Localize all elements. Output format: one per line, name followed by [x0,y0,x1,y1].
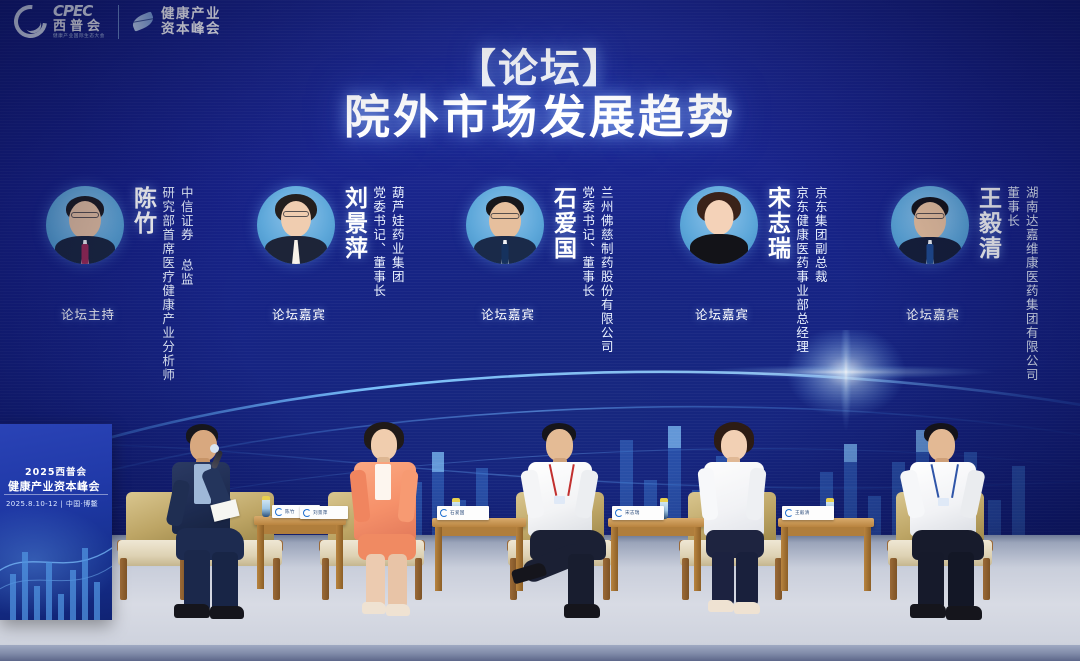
podium-banner: 2025西普会 健康产业资本峰会 2025.8.10-12 | 中国·博鳌 [0,424,112,620]
panelist-title-line-1: 党委书记、董事长 [370,186,386,298]
panelist-name: 刘景萍 [341,186,364,261]
avatar [46,186,124,264]
forum-title-block: 【论坛】 院外市场发展趋势 [0,48,1080,143]
shoe-right [564,604,600,618]
podium-banner-line-3: 2025.8.10-12 | 中国·博鳌 [0,499,104,509]
panelist-card-4: 王毅清 湖南达嘉维康医药集团有限公司 董事长 论坛嘉宾 [891,186,1039,382]
panelist-title-line-0: 京东集团副总裁 [812,186,828,354]
avatar [466,186,544,264]
placard-text: 刘景萍 [313,510,328,516]
placard-logo-icon [275,508,283,516]
panelist-title-line-1: 京东健康医药事业部总经理 [793,186,809,354]
podium-banner-divider [4,494,108,495]
logo-divider [118,5,119,39]
panelist-title-line-1: 研究部首席医疗健康产业分析师 [159,186,175,382]
shoe-left [174,604,210,618]
leaf-icon [130,12,155,32]
title-line-2: 院外市场发展趋势 [0,92,1080,143]
panelist-name: 宋志瑞 [764,186,787,261]
shoe-right [386,604,410,616]
summit-logo: 健康产业 资本峰会 [132,7,221,37]
panelist-card-3: 宋志瑞 京东集团副总裁 京东健康医药事业部总经理 论坛嘉宾 [680,186,828,354]
avatar [891,186,969,264]
panelist-title-line-0: 湖南达嘉维康医药集团有限公司 [1023,186,1039,382]
panelist-title-line-1: 党委书记、董事长 [579,186,595,354]
shoe-left [362,602,386,614]
person-panelist-4 [898,420,1016,620]
summit-logo-line2: 资本峰会 [161,22,221,37]
badge [938,498,949,506]
panelist-title-line-0: 兰州佛慈制药股份有限公司 [598,186,614,354]
panelist-title-line-1: 董事长 [1004,186,1020,382]
podium-banner-line-1: 2025西普会 [6,464,106,478]
panelist-role: 论坛主持 [48,304,128,323]
panelist-title-line-0: 葫芦娃药业集团 [389,186,405,298]
avatar [680,186,758,264]
stage-front-edge [0,645,1080,661]
summit-logo-line1: 健康产业 [161,7,221,22]
panelist-role: 论坛嘉宾 [893,304,973,323]
panelist-title-line-0: 中信证券 总监 [178,186,194,382]
placard-logo-icon [303,509,311,517]
person-panelist-3 [692,420,798,620]
podium-banner-line-2: 健康产业资本峰会 [0,478,108,494]
avatar [257,186,335,264]
badge [554,496,565,504]
shoe-right [734,602,760,614]
panelist-card-0: 陈竹 中信证券 总监 研究部首席医疗健康产业分析师 论坛主持 [46,186,194,382]
panelist-name: 石爱国 [550,186,573,261]
name-placard-1: 刘景萍 [300,506,348,519]
shoe-right [210,606,244,619]
panelist-role: 论坛嘉宾 [682,304,762,323]
cpec-logo-sub: 健康产业国际生态大会 [53,35,105,40]
header-logo-bar: CPEC 西普会 健康产业国际生态大会 健康产业 资本峰会 [14,4,221,40]
microphone-head [210,444,219,453]
panelist-card-row: 陈竹 中信证券 总监 研究部首席医疗健康产业分析师 论坛主持 刘景萍 葫芦娃药业… [0,186,1080,436]
placard-text: 石爱国 [450,510,465,516]
person-panelist-2 [512,420,630,620]
panelist-name: 王毅清 [975,186,998,261]
panelist-name: 陈竹 [130,186,153,236]
cpec-logo-cn: 西普会 [53,20,105,33]
cpec-ring-icon [7,0,53,45]
cpec-logo: CPEC 西普会 健康产业国际生态大会 [14,4,105,40]
panelist-role: 论坛嘉宾 [259,304,339,323]
placard-text: 陈竹 [285,509,295,515]
conference-stage-photo: CPEC 西普会 健康产业国际生态大会 健康产业 资本峰会 【论坛】 院外市场发… [0,0,1080,661]
panelist-card-1: 刘景萍 葫芦娃药业集团 党委书记、董事长 论坛嘉宾 [257,186,405,298]
title-line-1: 【论坛】 [0,48,1080,90]
shoe-left [910,604,946,618]
panelist-role: 论坛嘉宾 [468,304,548,323]
panelist-card-2: 石爱国 兰州佛慈制药股份有限公司 党委书记、董事长 论坛嘉宾 [466,186,614,354]
person-moderator [150,420,270,620]
cpec-logo-en: CPEC [53,4,105,19]
shoe-left [708,600,734,612]
person-panelist-1 [342,420,452,620]
shoe-right [946,606,982,620]
